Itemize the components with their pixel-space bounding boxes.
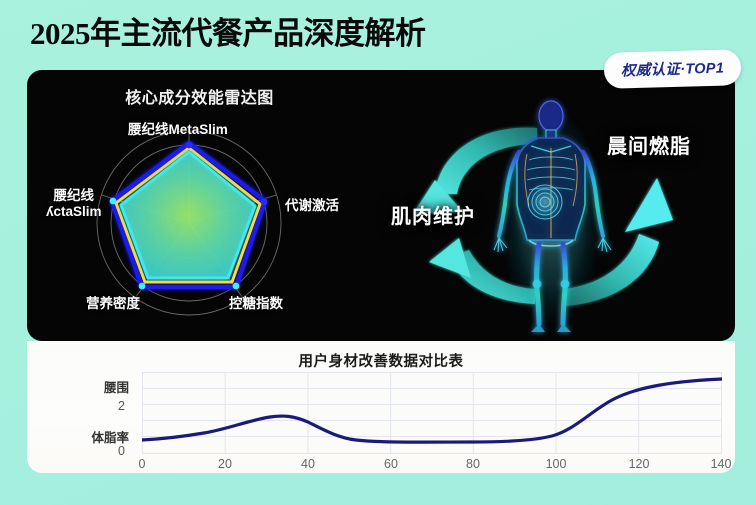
line-chart-plot <box>142 372 722 454</box>
radar-label-top: 腰纪线MetaSlim <box>128 122 228 138</box>
y-tick-0: 0 <box>118 444 125 458</box>
page-title: 2025年主流代餐产品深度解析 <box>30 8 426 53</box>
radar-label-left: 腰纪线 ʎctaSlim <box>46 188 102 219</box>
status-badge: 权威认证·TOP1 <box>603 49 741 89</box>
body-diagram: 肌肉维护 晨间燃脂 <box>367 92 735 340</box>
body-label-left: 肌肉维护 <box>391 200 475 229</box>
radar-chart: 腰纪线MetaSlim 代谢激活 营养密度 控糖指数 腰纪线 ʎctaSlim <box>32 100 362 340</box>
line-chart-title: 用户身材改善数据对比表 <box>27 350 735 371</box>
x-tick-20: 20 <box>218 457 232 471</box>
x-tick-140: 140 <box>711 457 732 471</box>
line-chart-card: 用户身材改善数据对比表 腰围 体脂率 2 0 <box>27 341 735 473</box>
radar-label-left-line1: 腰纪线 <box>46 188 102 204</box>
x-tick-40: 40 <box>301 457 315 471</box>
x-tick-120: 120 <box>629 457 650 471</box>
x-tick-60: 60 <box>384 457 398 471</box>
radar-label-left-line2: ʎctaSlim <box>46 204 102 220</box>
radar-label-bottom-left: 营养密度 <box>86 296 140 312</box>
body-label-right: 晨间燃脂 <box>607 130 691 159</box>
poster-root: 2025年主流代餐产品深度解析 权威认证·TOP1 核心成分效能雷达图 <box>0 0 756 505</box>
y-tick-2: 2 <box>118 399 125 413</box>
x-tick-0: 0 <box>139 457 146 471</box>
radar-label-right: 代谢激活 <box>285 198 339 214</box>
y-annotation-waist: 腰围 <box>104 377 129 396</box>
radar-series-cyan <box>121 152 255 278</box>
radar-label-bottom-right: 控糖指数 <box>229 296 283 312</box>
x-tick-100: 100 <box>546 457 567 471</box>
x-tick-80: 80 <box>466 457 480 471</box>
dark-panel: 核心成分效能雷达图 <box>27 70 735 341</box>
